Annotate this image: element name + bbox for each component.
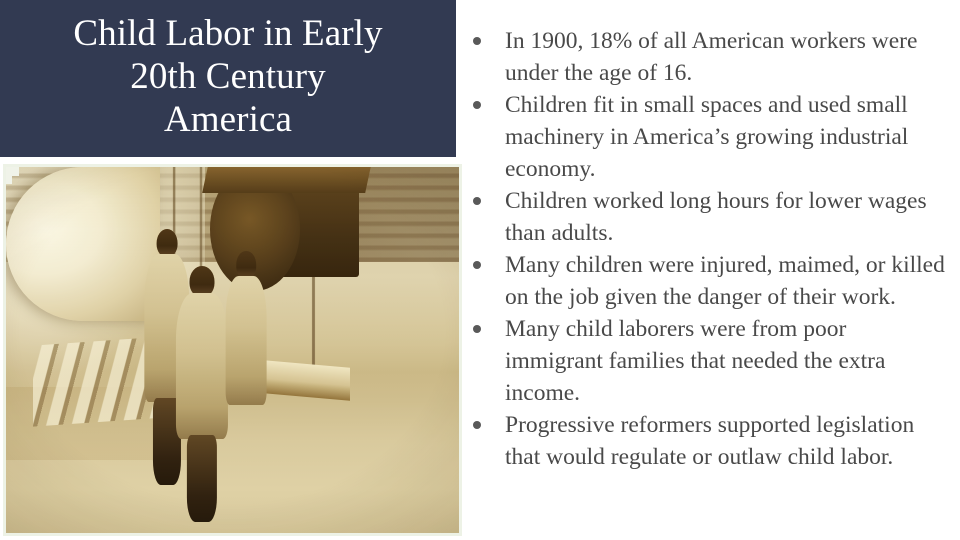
- bullet-text: Children fit in small spaces and used sm…: [505, 92, 908, 182]
- bullet-text: Children worked long hours for lower wag…: [505, 188, 927, 246]
- slide-title-block: Child Labor in Early 20th Century Americ…: [0, 0, 456, 157]
- historical-photo-frame: [3, 164, 462, 536]
- bullet-item: Progressive reformers supported legislat…: [468, 409, 948, 473]
- slide-title: Child Labor in Early 20th Century Americ…: [73, 12, 382, 142]
- bullet-item: Children fit in small spaces and used sm…: [468, 89, 948, 185]
- bullet-text: Many child laborers were from poor immig…: [505, 316, 885, 406]
- bullet-text: Many children were injured, maimed, or k…: [505, 252, 945, 310]
- historical-photo-textile-mill: [6, 167, 459, 533]
- slide-body: In 1900, 18% of all American workers wer…: [468, 25, 948, 473]
- photo-sepia-tone: [6, 167, 459, 533]
- bullet-dot-icon: [473, 197, 481, 205]
- bullet-list: In 1900, 18% of all American workers wer…: [468, 25, 948, 473]
- photo-corner-notch-edge: [6, 167, 12, 184]
- bullet-dot-icon: [473, 101, 481, 109]
- bullet-text: Progressive reformers supported legislat…: [505, 412, 914, 470]
- bullet-text: In 1900, 18% of all American workers wer…: [505, 28, 917, 86]
- bullet-dot-icon: [473, 37, 481, 45]
- bullet-dot-icon: [473, 261, 481, 269]
- presentation-slide: Child Labor in Early 20th Century Americ…: [0, 0, 960, 540]
- bullet-item: Children worked long hours for lower wag…: [468, 185, 948, 249]
- bullet-item: Many children were injured, maimed, or k…: [468, 249, 948, 313]
- bullet-dot-icon: [473, 421, 481, 429]
- bullet-dot-icon: [473, 325, 481, 333]
- bullet-item: In 1900, 18% of all American workers wer…: [468, 25, 948, 89]
- bullet-item: Many child laborers were from poor immig…: [468, 313, 948, 409]
